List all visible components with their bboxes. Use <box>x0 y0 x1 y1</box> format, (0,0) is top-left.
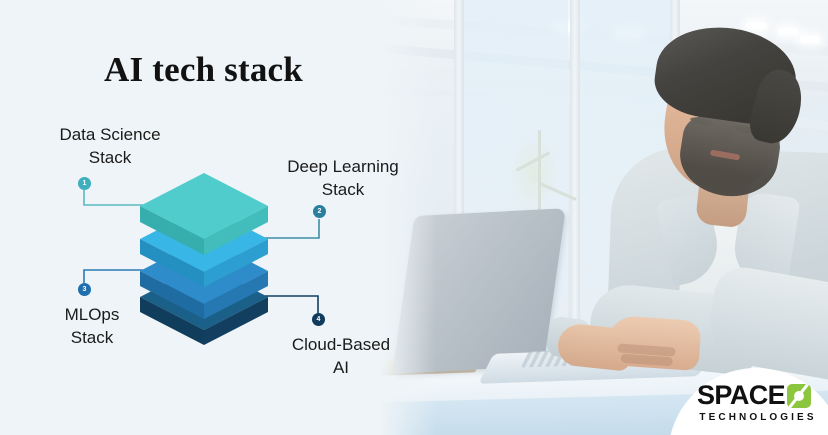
callout-label-deep-learning: Deep Learning Stack <box>248 155 438 201</box>
callout-badge-1[interactable]: 1 <box>78 177 91 190</box>
person-right-hand <box>606 315 701 371</box>
logo-tagline: TECHNOLOGIES <box>697 412 819 423</box>
callout-badge-4[interactable]: 4 <box>312 313 325 326</box>
ceiling-light <box>746 22 766 29</box>
page-title: AI tech stack <box>104 50 303 90</box>
infographic-canvas: AI tech stack <box>0 0 828 435</box>
callout-badge-3[interactable]: 3 <box>78 283 91 296</box>
connector-1 <box>84 190 143 205</box>
connector-2 <box>264 219 319 238</box>
connector-4 <box>264 296 318 313</box>
callout-label-cloud-based-ai: Cloud-Based AI <box>246 333 436 379</box>
ceiling-light <box>778 28 798 35</box>
logo-wordmark: SPACE <box>697 382 819 409</box>
callout-label-mlops: MLOps Stack <box>22 303 162 349</box>
stack-layer-2 <box>140 206 268 287</box>
logo-brand-text: SPACE <box>697 382 785 409</box>
brand-logo[interactable]: SPACE TECHNOLOGIES <box>697 382 819 423</box>
callout-label-data-science: Data Science Stack <box>18 123 202 169</box>
space-o-mark-icon <box>787 384 811 408</box>
ceiling-light <box>800 36 820 43</box>
callout-badge-2[interactable]: 2 <box>313 205 326 218</box>
connector-3 <box>84 270 143 283</box>
